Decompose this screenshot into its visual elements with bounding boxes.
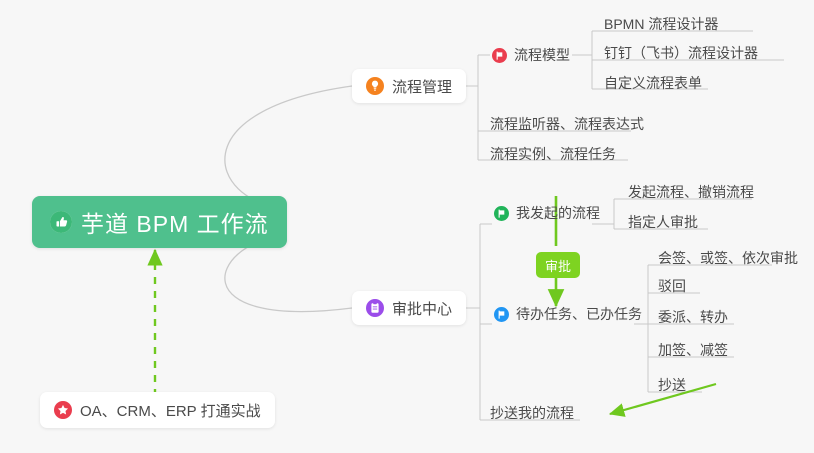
leaf-dingtalk-designer[interactable]: 钉钉（飞书）流程设计器 <box>598 40 766 66</box>
leaf-instance-task[interactable]: 流程实例、流程任务 <box>484 141 624 167</box>
flag-icon <box>492 48 507 63</box>
approval-tag-label: 审批 <box>545 256 571 275</box>
node-label: 流程模型 <box>514 45 570 65</box>
node-label: 我发起的流程 <box>516 203 600 223</box>
branch-process-management[interactable]: 流程管理 <box>352 69 466 103</box>
root-label: 芋道 BPM 工作流 <box>81 205 269 239</box>
flag-icon <box>494 307 509 322</box>
leaf-cc[interactable]: 抄送 <box>652 372 694 398</box>
node-label: 待办任务、已办任务 <box>516 304 642 324</box>
branch-approval-center[interactable]: 审批中心 <box>352 291 466 325</box>
leaf-label: 发起流程、撤销流程 <box>628 182 754 202</box>
leaf-listener-expression[interactable]: 流程监听器、流程表达式 <box>484 111 652 137</box>
node-my-initiated-process[interactable]: 我发起的流程 <box>492 200 606 226</box>
node-process-model[interactable]: 流程模型 <box>490 42 576 68</box>
leaf-label: 抄送 <box>658 375 686 395</box>
leaf-add-remove-sign[interactable]: 加签、减签 <box>652 337 736 363</box>
clipboard-icon <box>366 299 384 317</box>
root-node[interactable]: 芋道 BPM 工作流 <box>32 196 287 248</box>
mindmap-canvas: 芋道 BPM 工作流 流程管理 流程模型 BPMN 流程设计器 钉钉（飞书）流程… <box>0 0 814 453</box>
leaf-label: 委派、转办 <box>658 307 728 327</box>
leaf-label: 流程监听器、流程表达式 <box>490 114 644 134</box>
leaf-assigned-approver[interactable]: 指定人审批 <box>622 209 706 235</box>
integration-note-label: OA、CRM、ERP 打通实战 <box>80 400 261 421</box>
leaf-bpmn-designer[interactable]: BPMN 流程设计器 <box>598 11 726 37</box>
leaf-reject[interactable]: 驳回 <box>652 273 694 299</box>
branch-label: 审批中心 <box>392 298 452 319</box>
star-icon <box>54 401 72 419</box>
integration-note-node[interactable]: OA、CRM、ERP 打通实战 <box>40 392 275 428</box>
lightbulb-icon <box>366 77 384 95</box>
leaf-label: 会签、或签、依次审批 <box>658 248 798 268</box>
edge-root-to-process-management <box>225 86 352 208</box>
leaf-label: 加签、减签 <box>658 340 728 360</box>
thumbs-up-icon <box>50 211 72 233</box>
leaf-label: 自定义流程表单 <box>604 73 702 93</box>
leaf-label: 指定人审批 <box>628 212 698 232</box>
flag-icon <box>494 206 509 221</box>
leaf-label: 流程实例、流程任务 <box>490 144 616 164</box>
approval-tag[interactable]: 审批 <box>536 252 580 278</box>
leaf-label: 钉钉（飞书）流程设计器 <box>604 43 758 63</box>
branch-label: 流程管理 <box>392 76 452 97</box>
leaf-cc-to-me-process[interactable]: 抄送我的流程 <box>484 400 582 426</box>
leaf-delegate-transfer[interactable]: 委派、转办 <box>652 304 736 330</box>
leaf-custom-form[interactable]: 自定义流程表单 <box>598 70 710 96</box>
leaf-countersign[interactable]: 会签、或签、依次审批 <box>652 245 806 271</box>
node-todo-done-tasks[interactable]: 待办任务、已办任务 <box>492 301 648 327</box>
leaf-start-cancel-process[interactable]: 发起流程、撤销流程 <box>622 179 762 205</box>
leaf-label: 驳回 <box>658 276 686 296</box>
leaf-label: 抄送我的流程 <box>490 403 574 423</box>
leaf-label: BPMN 流程设计器 <box>604 14 718 34</box>
